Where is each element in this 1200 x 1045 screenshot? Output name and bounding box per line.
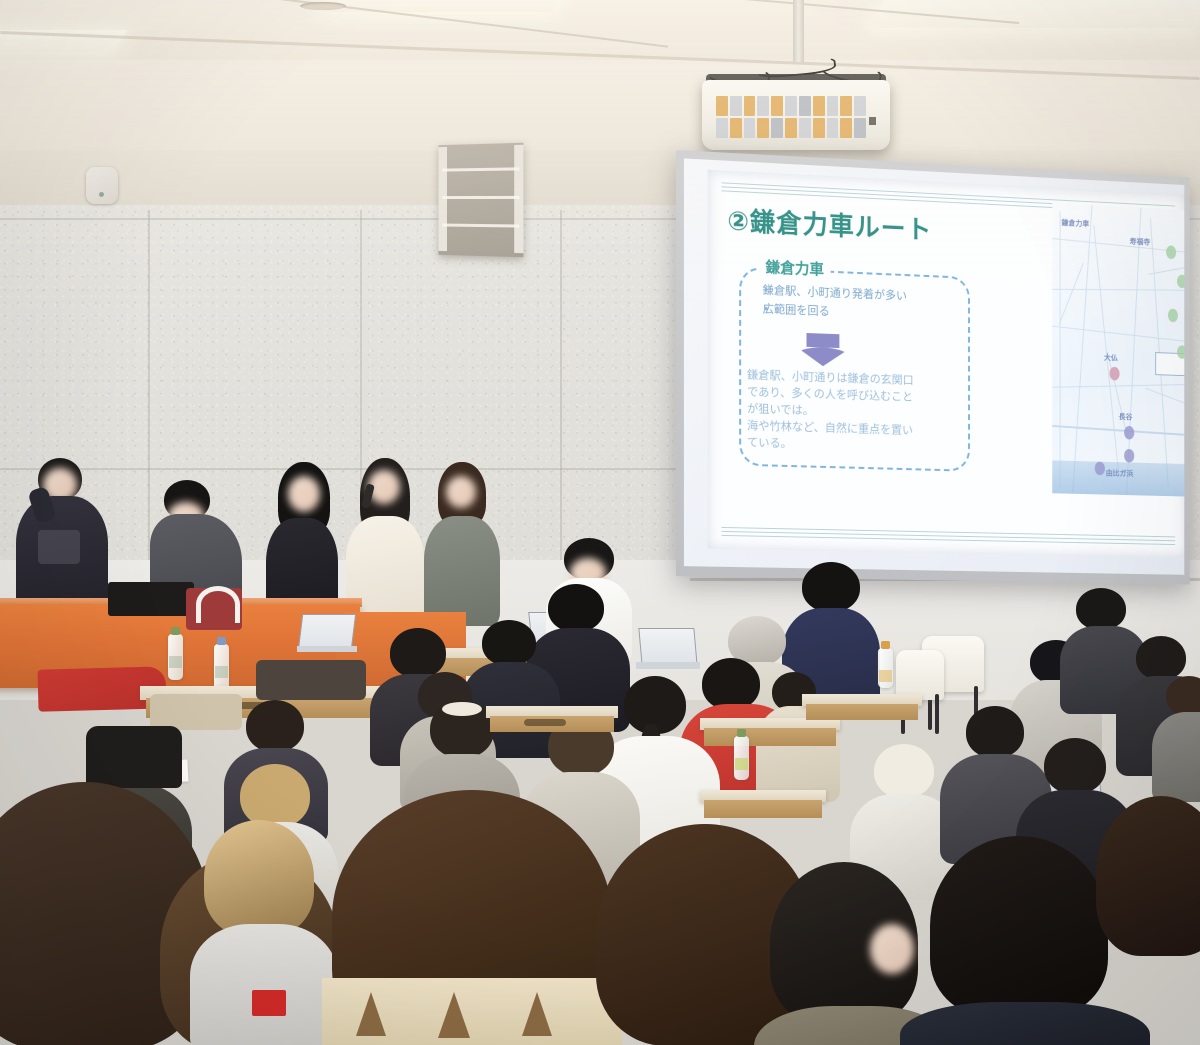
slide-map: 鎌倉力車 寿福寺 大仏 長谷 由比ガ浜 [1052,203,1184,496]
projector-icon [702,80,890,150]
ceiling [0,0,1200,168]
map-label-jufukuji: 寿福寺 [1130,236,1151,248]
map-pin-2 [1177,275,1184,289]
audience-desk-3-panel [806,704,918,720]
map-label-hase: 長谷 [1119,411,1133,422]
projector-mount [793,0,804,62]
lecture-hall-photo: ②鎌倉力車ルート 鎌倉力車 鎌倉駅、小町通り発着が多い 広範囲を回る 鎌倉駅、小… [0,0,1200,1045]
projector-vent-grille [716,96,866,138]
map-label-kamakura-rikisha: 鎌倉力車 [1062,217,1090,229]
water-bottle-4 [878,648,893,688]
presenter-3-face [288,476,320,512]
podium-monitor [108,582,194,616]
audience-desk-1-handle [524,719,566,726]
front-desk-dark-bag [256,660,366,700]
ceiling-vent-1 [300,2,346,10]
map-pin-5 [1109,367,1119,381]
map-pin-8 [1095,462,1105,476]
wall-speaker-icon [438,143,523,258]
front-desk-beige-bag [150,694,242,730]
map-pin-7 [1124,449,1134,463]
slide-title: ②鎌倉力車ルート [727,201,932,247]
map-pin-6 [1124,426,1134,440]
projector-indicator [869,117,876,125]
map-pin-1 [1166,245,1176,259]
water-bottle-1 [168,634,183,680]
map-roads [1052,203,1184,496]
slide-body-text: 鎌倉駅、小町通りは鎌倉の玄関口 であり、多くの人を呼び込むこと が狙いでは。 海… [747,366,966,457]
empty-chair-2 [896,650,944,700]
map-pin-4 [1177,345,1184,359]
slide-rule-bottom [721,527,1175,548]
slide-box-label: 鎌倉力車 [759,256,831,280]
presenter-5-torso [424,516,500,626]
water-bottle-3 [734,736,749,780]
desk-backpack [86,726,182,788]
motion-sensor-icon [86,167,118,204]
wall-seam-v3 [560,210,562,610]
map-label-yuigahama: 由比ガ浜 [1106,468,1134,479]
slide: ②鎌倉力車ルート 鎌倉力車 鎌倉駅、小町通り発着が多い 広範囲を回る 鎌倉駅、小… [708,170,1185,558]
foreground-logo-patch [252,990,286,1016]
map-label-daibutsu: 大仏 [1104,352,1118,363]
projection-screen: ②鎌倉力車ルート 鎌倉力車 鎌倉駅、小町通り発着が多い 広範囲を回る 鎌倉駅、小… [676,150,1190,584]
wall-seam-h2 [0,468,680,470]
presenter-5-face [446,476,476,508]
screen-surface: ②鎌倉力車ルート 鎌倉力車 鎌倉駅、小町通り発着が多い 広範囲を回る 鎌倉駅、小… [684,158,1184,574]
map-pin-3 [1168,309,1178,323]
audience-desk-2-panel [704,728,836,746]
ceiling-light-2 [322,0,567,12]
audience-desk-4-panel [704,800,822,818]
podium-bag-strap [196,586,240,623]
